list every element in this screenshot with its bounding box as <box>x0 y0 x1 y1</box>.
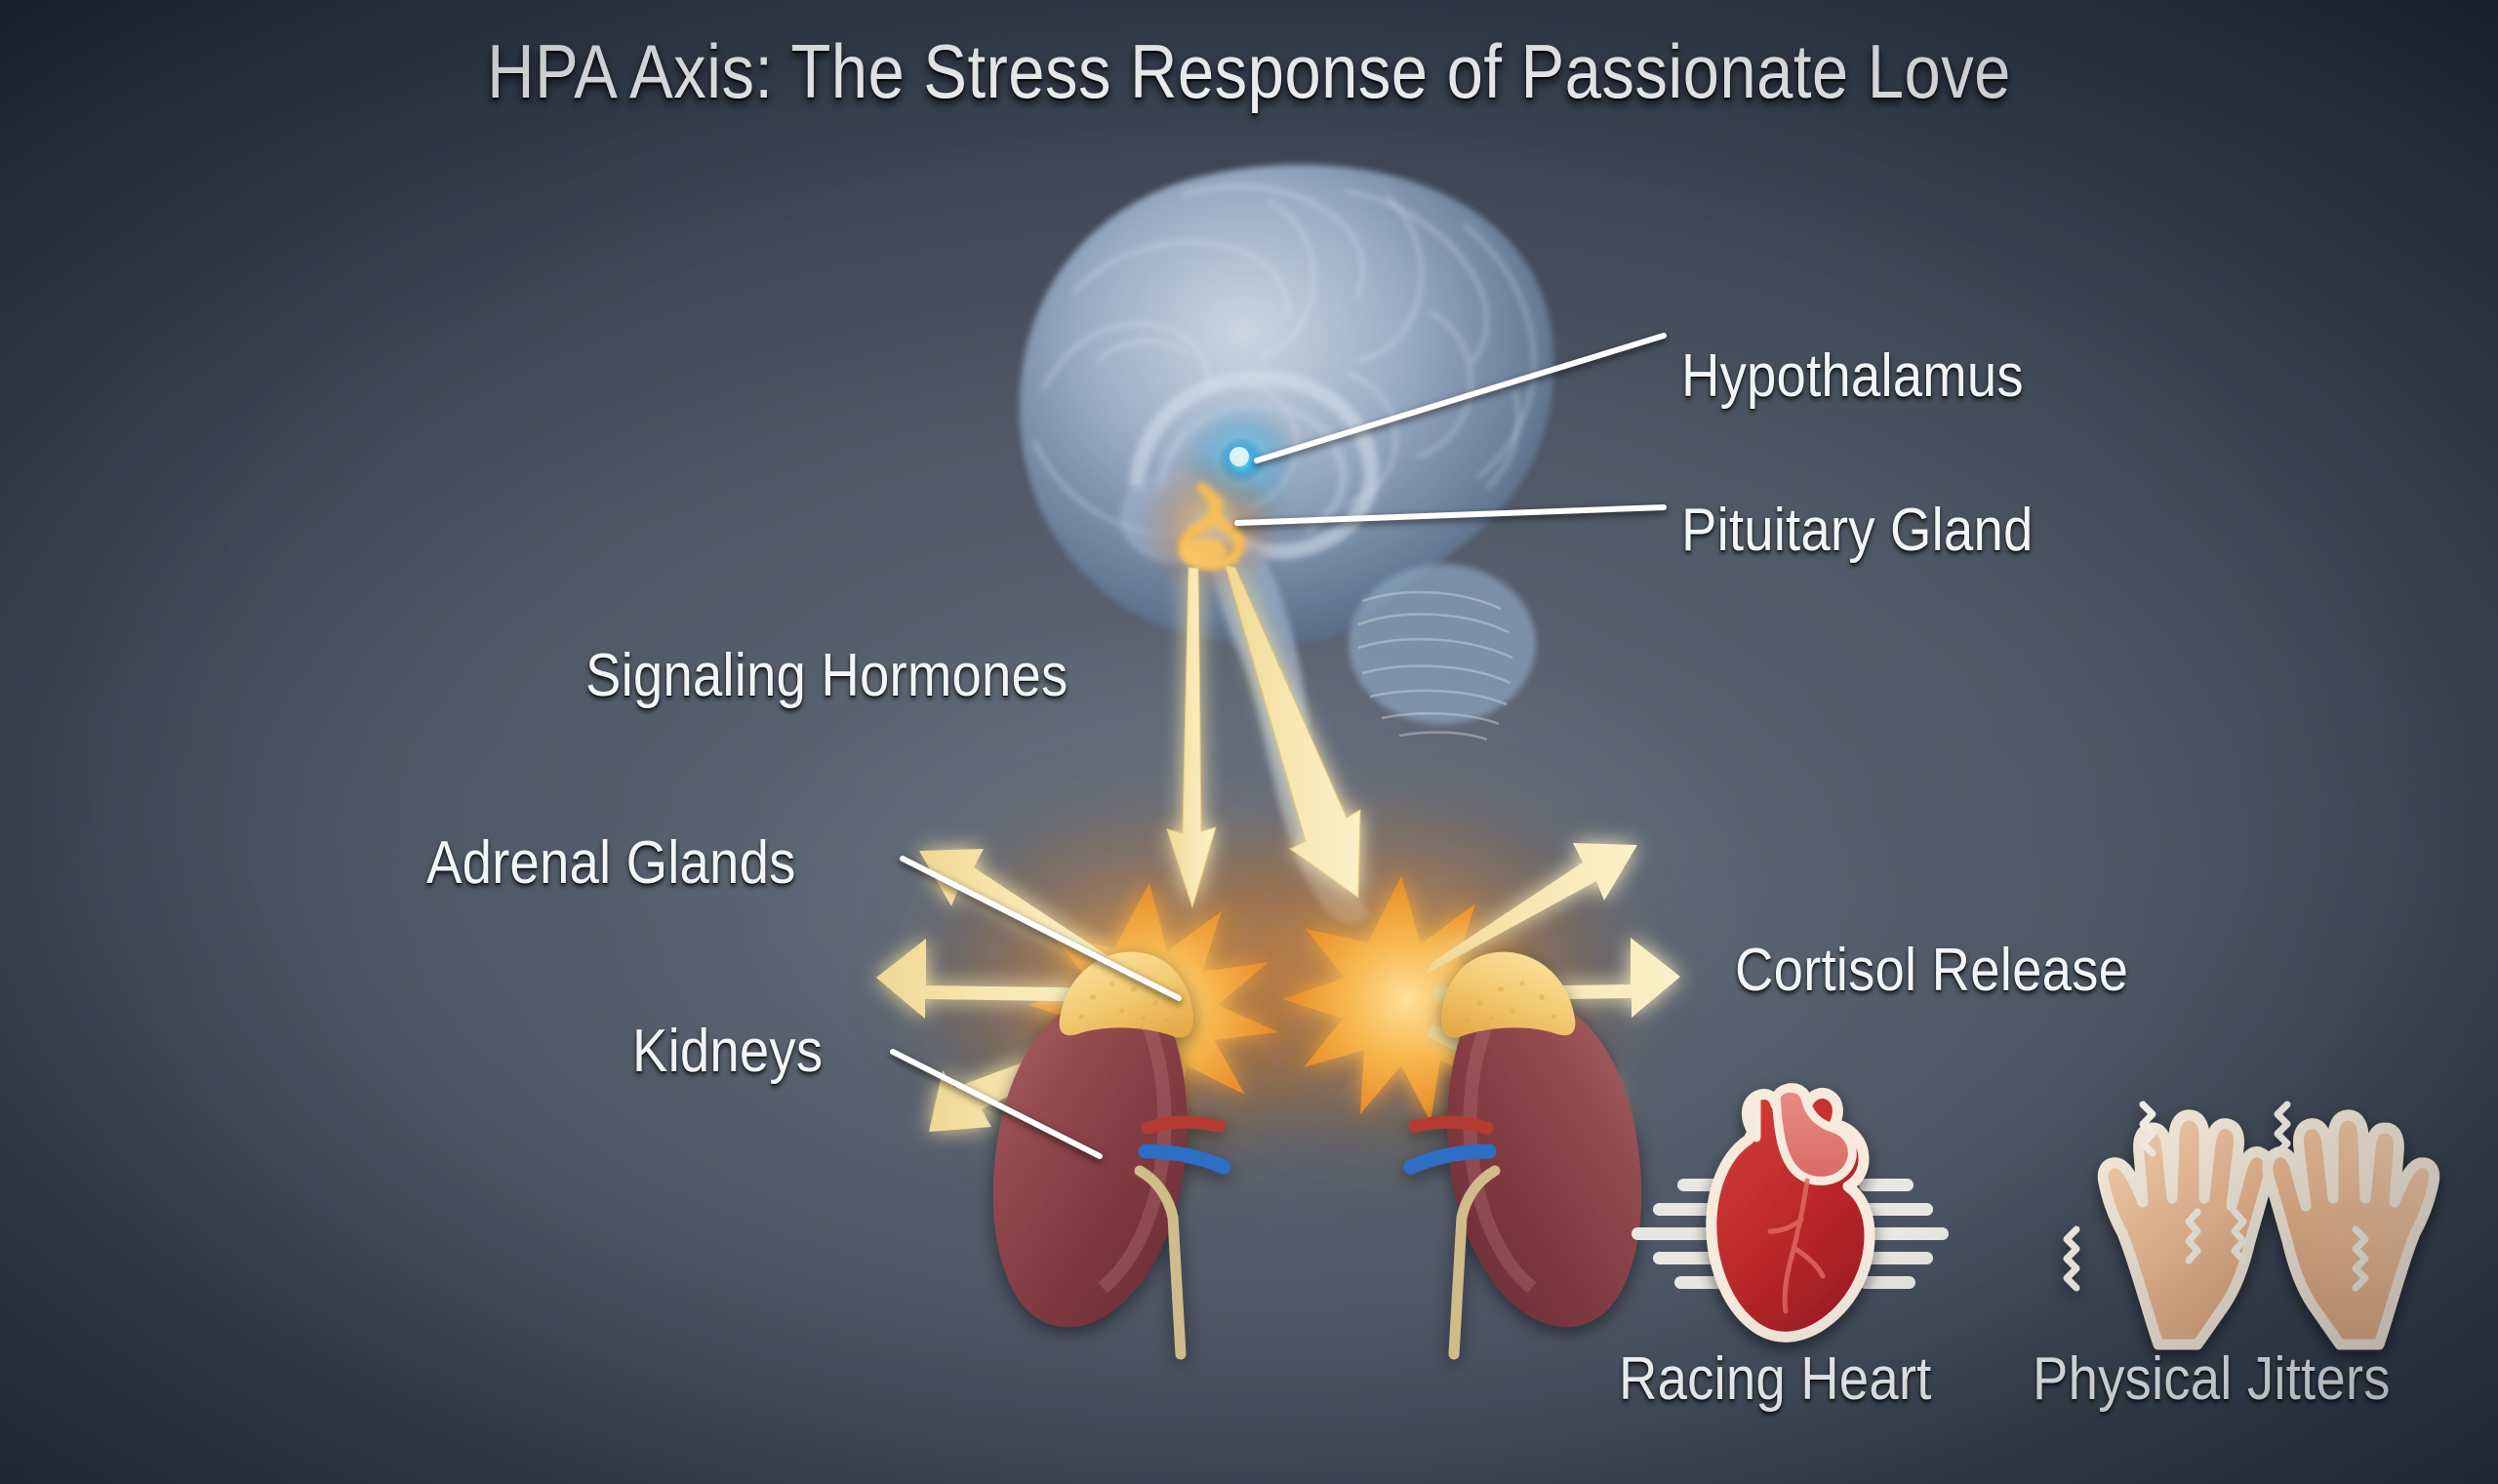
label-physical-jitters: Physical Jitters <box>2033 1344 2391 1414</box>
pointer-adrenal <box>903 859 1179 998</box>
page-title: HPA Axis: The Stress Response of Passion… <box>175 27 2323 116</box>
label-hypothalamus: Hypothalamus <box>1681 341 2024 411</box>
pointer-kidneys <box>893 1052 1100 1156</box>
label-cortisol-release: Cortisol Release <box>1735 936 2128 1005</box>
pointer-pituitary <box>1237 507 1664 523</box>
diagram-canvas: HPA Axis: The Stress Response of Passion… <box>0 0 2498 1484</box>
pointer-line-layer <box>0 0 2498 1484</box>
pointer-hypothalamus <box>1257 336 1664 461</box>
label-adrenal-glands: Adrenal Glands <box>426 828 796 898</box>
label-kidneys: Kidneys <box>632 1017 823 1086</box>
label-racing-heart: Racing Heart <box>1619 1344 1932 1414</box>
label-signaling-hormones: Signaling Hormones <box>585 641 1068 710</box>
label-pituitary-gland: Pituitary Gland <box>1681 496 2033 565</box>
